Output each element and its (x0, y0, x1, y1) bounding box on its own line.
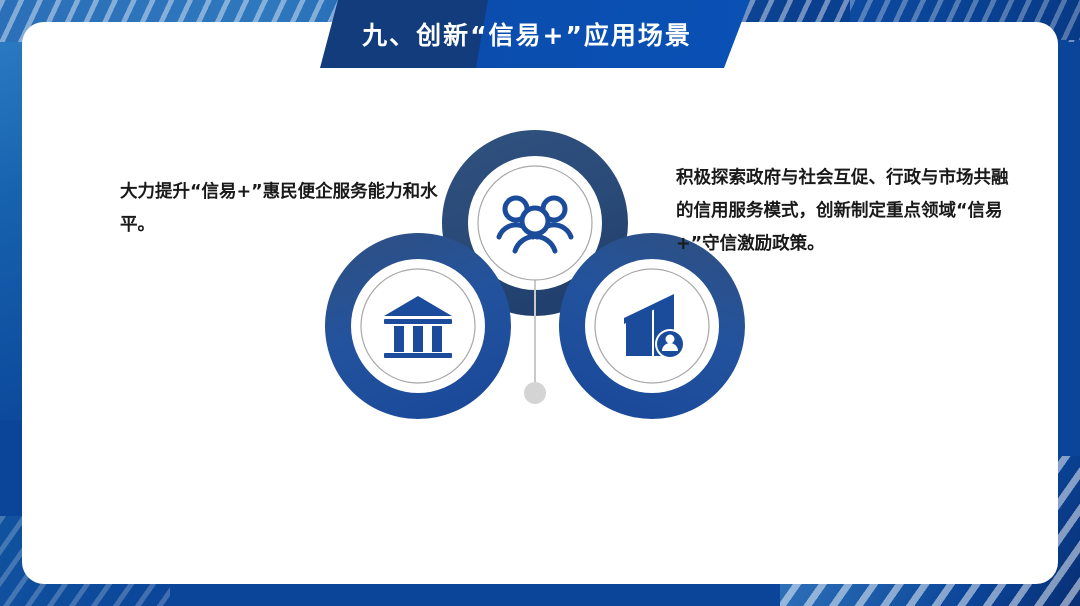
page-title: 九、创新“信易+”应用场景 (362, 16, 708, 52)
text-right-upper: 积极探索政府与社会互促、行政与市场共融的信用服务模式，创新制定重点领域“信易+”… (676, 162, 1021, 261)
text-left-upper: 大力提升“信易+”惠民便企服务能力和水平。 (120, 176, 440, 242)
title-banner: 九、创新“信易+”应用场景 (320, 0, 750, 68)
